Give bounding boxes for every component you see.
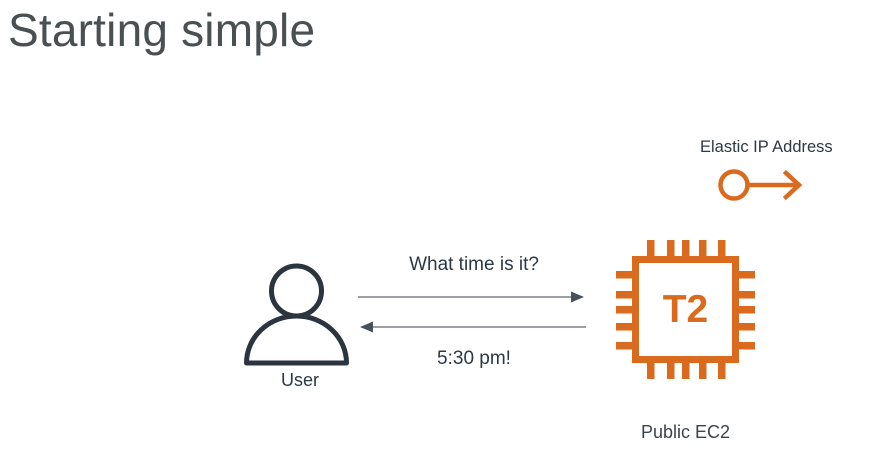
slide-canvas: Starting simple Elastic IP Address User … — [0, 0, 869, 473]
elastic-ip-group: Elastic IP Address — [700, 136, 865, 208]
request-message-label: What time is it? — [358, 252, 590, 278]
user-label: User — [240, 368, 360, 392]
message-exchange-group: What time is it? 5:30 pm! — [358, 252, 590, 382]
ec2-chip-icon — [614, 238, 757, 386]
user-person-icon — [240, 262, 353, 371]
page-title: Starting simple — [8, 2, 315, 58]
elastic-ip-label: Elastic IP Address — [700, 136, 833, 158]
arrow-left-response — [358, 320, 586, 339]
ec2-caption-label: Public EC2 — [598, 420, 773, 444]
elastic-ip-icon — [716, 164, 808, 211]
ec2-group: T2 Public EC2 — [614, 238, 759, 450]
response-message-label: 5:30 pm! — [358, 346, 590, 372]
user-group: User — [240, 262, 360, 402]
arrow-right-request — [358, 290, 586, 309]
